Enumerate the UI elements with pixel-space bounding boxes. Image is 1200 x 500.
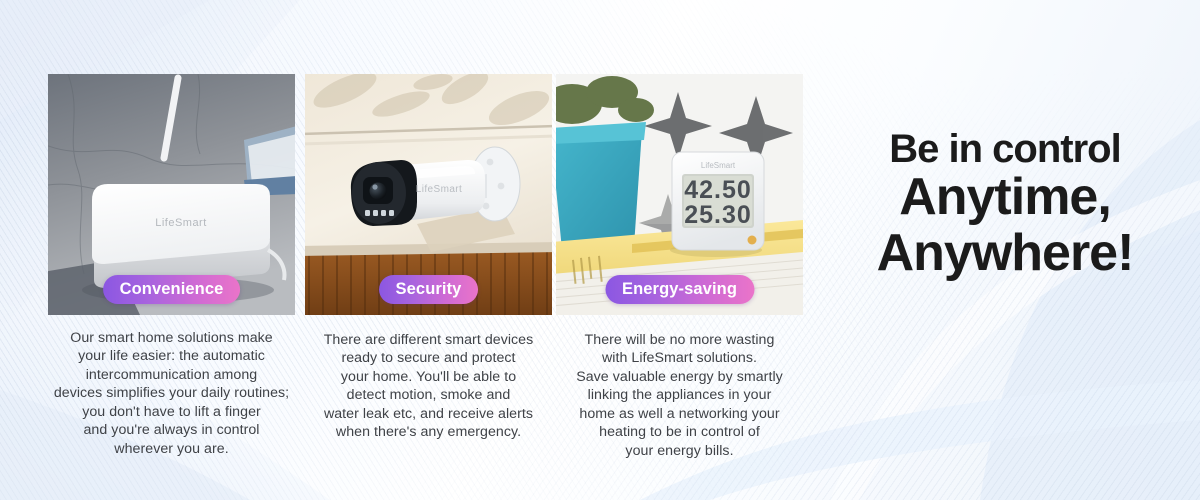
device-label: LifeSmart xyxy=(416,184,462,195)
promo-banner: LifeSmart Convenience Our smart home sol… xyxy=(0,0,1200,500)
energy-saving-description: There will be no more wasting with LifeS… xyxy=(556,331,803,460)
energy-saving-photo: LifeSmart 42.50 25.30 Energy-saving xyxy=(556,74,803,315)
badge-energy-saving[interactable]: Energy-saving xyxy=(605,275,754,305)
badge-convenience[interactable]: Convenience xyxy=(103,275,241,305)
security-description: There are different smart devices ready … xyxy=(305,331,552,442)
security-photo: LifeSmart Security xyxy=(305,74,552,315)
headline-line-2: Anytime, xyxy=(830,170,1180,225)
headline-line-1: Be in control xyxy=(830,128,1180,170)
headline-line-3: Anywhere! xyxy=(830,226,1180,281)
sensor-temperature-reading: 25.30 xyxy=(684,201,752,229)
device-label: LifeSmart xyxy=(701,161,736,170)
convenience-photo: LifeSmart Convenience xyxy=(48,74,295,315)
convenience-description: Our smart home solutions make your life … xyxy=(48,329,295,458)
sensor-humidity-reading: 42.50 xyxy=(684,176,752,204)
feature-cards: LifeSmart Convenience Our smart home sol… xyxy=(0,0,820,500)
device-label: LifeSmart xyxy=(155,217,207,229)
feature-card-convenience[interactable]: LifeSmart Convenience Our smart home sol… xyxy=(48,74,295,458)
headline: Be in control Anytime, Anywhere! xyxy=(830,128,1180,281)
badge-security[interactable]: Security xyxy=(379,275,479,305)
feature-card-energy-saving[interactable]: LifeSmart 42.50 25.30 Energy-saving Ther… xyxy=(556,74,803,460)
feature-card-security[interactable]: LifeSmart Security There are different s… xyxy=(305,74,552,442)
